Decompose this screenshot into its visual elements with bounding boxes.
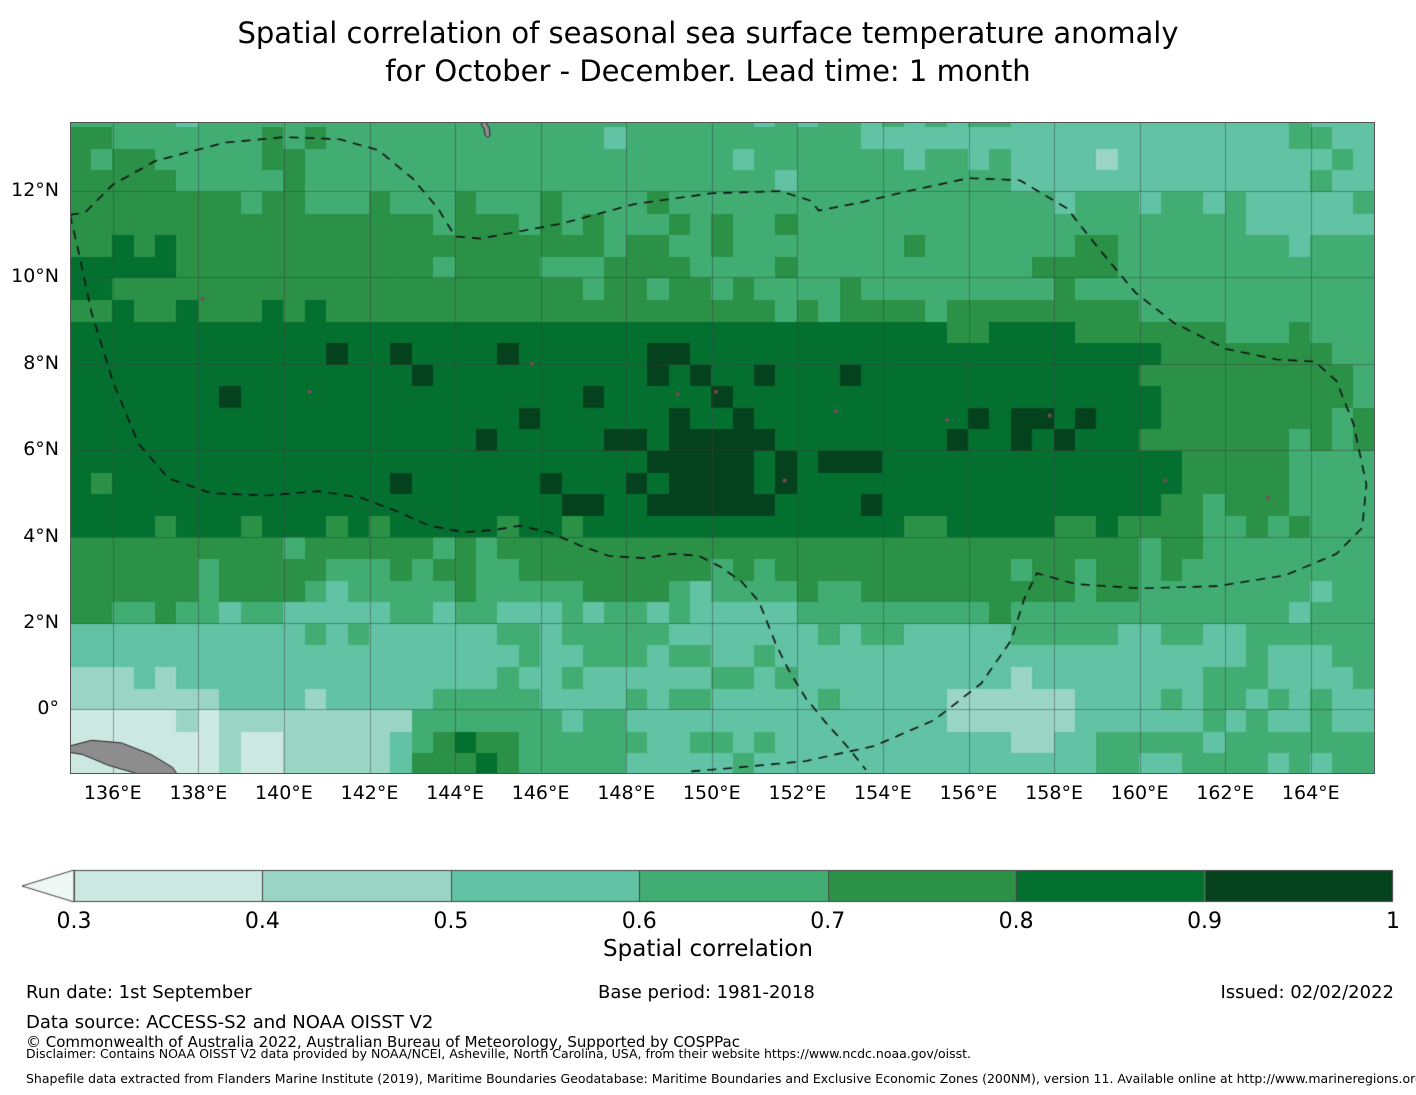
- y-tick-label: 4°N: [0, 527, 59, 546]
- issued-date: Issued: 02/02/2022: [1220, 982, 1394, 1004]
- colorbar-label: Spatial correlation: [0, 936, 1416, 962]
- meta-row: Run date: 1st September Base period: 198…: [0, 982, 1416, 1006]
- colorbar-tick-label: 0.3: [4, 910, 144, 934]
- data-source: Data source: ACCESS-S2 and NOAA OISST V2: [26, 1012, 433, 1034]
- shapefile-attribution: Shapefile data extracted from Flanders M…: [26, 1071, 1416, 1087]
- colorbar-gradient: [22, 866, 1394, 906]
- correlation-heatmap: [70, 122, 1375, 774]
- map-plot-area: [70, 122, 1375, 774]
- y-tick-label: 0°: [0, 699, 59, 718]
- y-tick-label: 12°N: [0, 181, 59, 200]
- disclaimer-text: Disclaimer: Contains NOAA OISST V2 data …: [26, 1046, 971, 1062]
- colorbar-tick-label: 0.8: [946, 910, 1086, 934]
- colorbar-tick-label: 0.6: [569, 910, 709, 934]
- page-title: Spatial correlation of seasonal sea surf…: [0, 14, 1416, 90]
- colorbar-tick-label: 0.4: [192, 910, 332, 934]
- y-tick-label: 8°N: [0, 354, 59, 373]
- run-date: Run date: 1st September: [26, 982, 252, 1004]
- colorbar: 0.30.40.50.60.70.80.91 Spatial correlati…: [0, 866, 1416, 986]
- y-tick-label: 2°N: [0, 613, 59, 632]
- x-tick-label: 164°E: [1231, 784, 1391, 803]
- colorbar-tick-label: 0.7: [758, 910, 898, 934]
- y-tick-label: 6°N: [0, 440, 59, 459]
- base-period: Base period: 1981-2018: [598, 982, 815, 1004]
- y-tick-label: 10°N: [0, 267, 59, 286]
- colorbar-tick-label: 0.9: [1135, 910, 1275, 934]
- colorbar-tick-label: 1: [1323, 910, 1416, 934]
- colorbar-tick-label: 0.5: [381, 910, 521, 934]
